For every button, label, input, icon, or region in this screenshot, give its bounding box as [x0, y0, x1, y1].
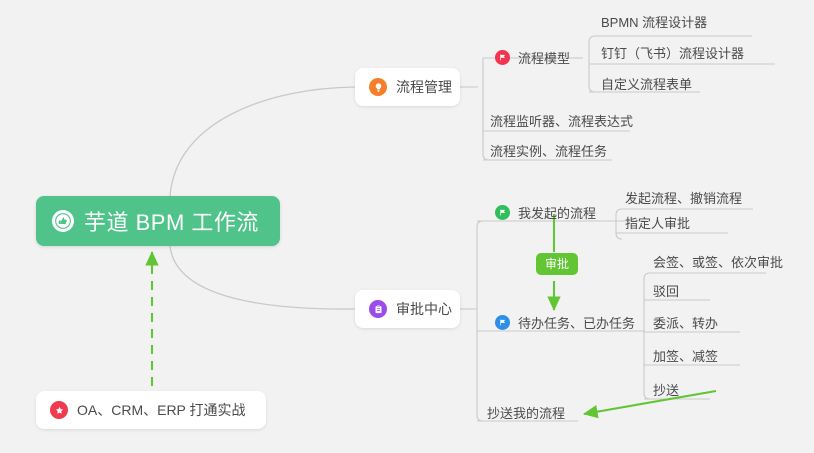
arrow-chaosong-to-mychaosong	[584, 391, 716, 414]
node-label: 流程实例、流程任务	[490, 141, 607, 160]
node-todo-done-tasks[interactable]: 待办任务、已办任务	[495, 313, 635, 335]
node-label: 指定人审批	[625, 213, 690, 232]
node-process-listener[interactable]: 流程监听器、流程表达式	[490, 111, 633, 133]
node-reject[interactable]: 驳回	[653, 281, 679, 303]
node-label: 钉钉（飞书）流程设计器	[601, 43, 744, 62]
node-label: BPMN 流程设计器	[601, 12, 707, 31]
link-pm-spine	[473, 64, 483, 154]
node-label: 委派、转办	[653, 313, 718, 332]
node-cc-to-me[interactable]: 抄送我的流程	[487, 403, 565, 425]
node-label: 抄送我的流程	[487, 403, 565, 422]
flag-icon	[495, 50, 510, 65]
flag-icon	[495, 205, 510, 220]
node-label: 我发起的流程	[518, 203, 596, 222]
node-delegate-transfer[interactable]: 委派、转办	[653, 313, 718, 335]
branch-label-approval-center: 审批中心	[396, 299, 452, 319]
node-label: 抄送	[653, 380, 679, 399]
annotation-label: 审批	[545, 257, 569, 271]
node-carbon-copy[interactable]: 抄送	[653, 380, 679, 402]
lightbulb-icon	[369, 78, 387, 96]
branch-node-process-management[interactable]: 流程管理	[355, 68, 460, 106]
node-label: 会签、或签、依次审批	[653, 252, 783, 271]
node-label: 发起流程、撤销流程	[625, 188, 742, 207]
node-label: 流程模型	[518, 48, 570, 67]
footnote-node[interactable]: OA、CRM、ERP 打通实战	[36, 391, 266, 429]
star-icon	[50, 401, 68, 419]
annotation-approval-pill: 审批	[536, 253, 578, 275]
node-countersign[interactable]: 会签、或签、依次审批	[653, 252, 783, 274]
node-dingtalk-designer[interactable]: 钉钉（飞书）流程设计器	[601, 43, 744, 65]
node-process-model[interactable]: 流程模型	[495, 48, 570, 70]
node-label: 加签、减签	[653, 346, 718, 365]
node-start-cancel-process[interactable]: 发起流程、撤销流程	[625, 188, 742, 210]
node-assignee-approval[interactable]: 指定人审批	[625, 213, 690, 235]
flag-icon	[495, 315, 510, 330]
node-bpmn-designer[interactable]: BPMN 流程设计器	[601, 12, 707, 34]
link-pm-spine-body	[483, 58, 489, 160]
link-ac-spine	[477, 221, 489, 421]
footnote-label: OA、CRM、ERP 打通实战	[77, 400, 246, 420]
link-root-to-approval-center	[170, 246, 355, 309]
node-custom-form[interactable]: 自定义流程表单	[601, 74, 692, 96]
node-add-remove-sign[interactable]: 加签、减签	[653, 346, 718, 368]
branch-node-approval-center[interactable]: 审批中心	[355, 290, 460, 328]
thumbs-up-icon	[52, 210, 74, 232]
branch-label-process-management: 流程管理	[396, 77, 452, 97]
node-label: 驳回	[653, 281, 679, 300]
node-label: 自定义流程表单	[601, 74, 692, 93]
node-process-instance[interactable]: 流程实例、流程任务	[490, 141, 607, 163]
root-label: 芋道 BPM 工作流	[84, 205, 259, 237]
clipboard-icon	[369, 300, 387, 318]
mindmap-canvas: 芋道 BPM 工作流 流程管理 审批中心	[0, 0, 814, 453]
node-my-initiated[interactable]: 我发起的流程	[495, 203, 596, 225]
link-root-to-process-management	[170, 87, 355, 196]
node-label: 待办任务、已办任务	[518, 313, 635, 332]
node-label: 流程监听器、流程表达式	[490, 111, 633, 130]
root-node[interactable]: 芋道 BPM 工作流	[36, 196, 280, 246]
